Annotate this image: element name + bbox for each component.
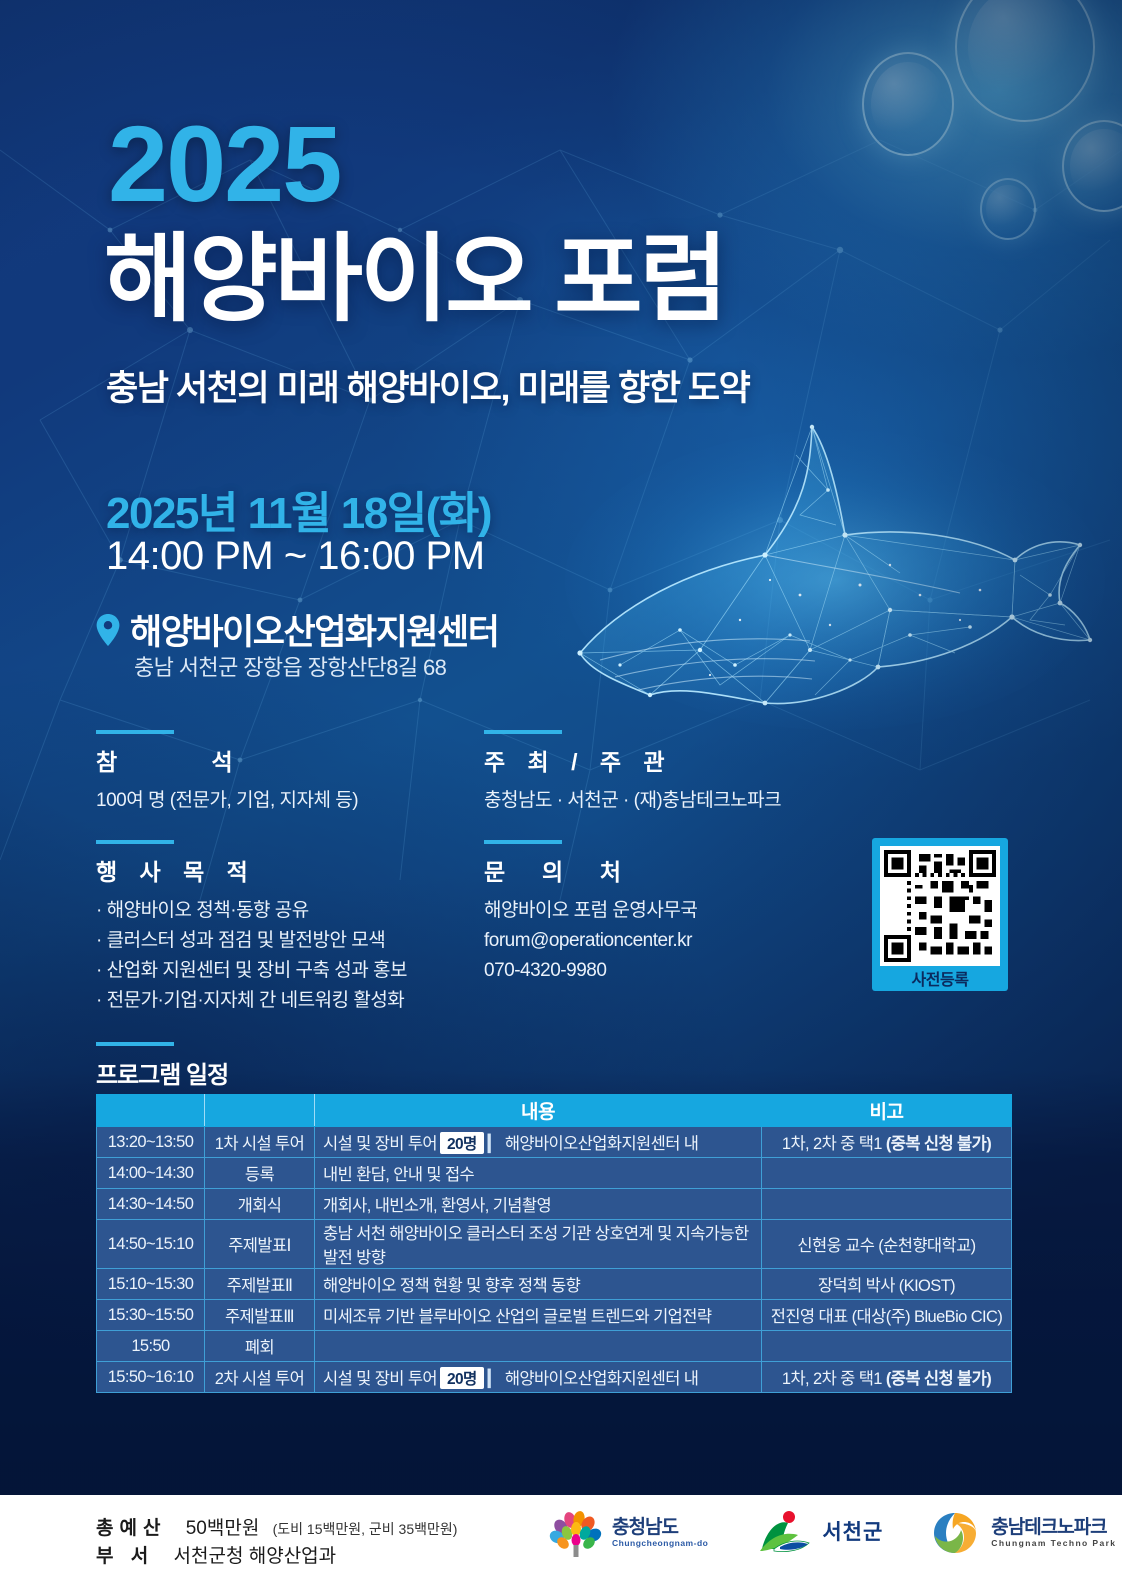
cell-content: 충남 서천 해양바이오 클러스터 조성 기관 상호연계 및 지속가능한 발전 방… (315, 1220, 762, 1269)
qr-registration-box[interactable]: 사전등록 (872, 838, 1008, 991)
program-heading-block: 프로그램 일정 (96, 1042, 228, 1090)
poster-title: 해양바이오 포럼 (104, 228, 725, 332)
table-row: 15:50폐회 (97, 1331, 1012, 1362)
table-row: 14:50~15:10주제발표Ⅰ충남 서천 해양바이오 클러스터 조성 기관 상… (97, 1220, 1012, 1269)
contact-phone[interactable]: 070-4320-9980 (484, 956, 844, 986)
cell-content: 시설 및 장비 투어20명▎해양바이오산업화지원센터 내 (315, 1362, 762, 1393)
event-date: 2025년 11월 18일(화) (106, 477, 491, 541)
note-text: 전진영 대표 (대상(주) BlueBio CIC) (771, 1308, 1002, 1326)
cell-note: 전진영 대표 (대상(주) BlueBio CIC) (762, 1300, 1012, 1331)
logo-seocheon-gun: 서천군 (754, 1509, 883, 1557)
event-time: 14:00 PM ~ 16:00 PM (106, 534, 485, 579)
note-text: 신현웅 교수 (순천향대학교) (797, 1237, 975, 1255)
cell-time: 15:50~16:10 (97, 1362, 205, 1393)
capacity-badge: 20명 (440, 1132, 484, 1154)
cell-note: 신현웅 교수 (순천향대학교) (762, 1220, 1012, 1269)
cell-time: 14:00~14:30 (97, 1158, 205, 1189)
accent-bar (484, 840, 562, 844)
content-text: 충남 서천 해양바이오 클러스터 조성 기관 상호연계 및 지속가능한 발전 방… (323, 1225, 749, 1267)
footer-budget-line: 총예산 50백만원 (도비 15백만원, 군비 35백만원) (96, 1513, 457, 1540)
cell-content: 시설 및 장비 투어20명▎해양바이오산업화지원센터 내 (315, 1127, 762, 1158)
note-emphasis: (중복 신청 불가) (886, 1370, 991, 1388)
content-text: 미세조류 기반 블루바이오 산업의 글로벌 트렌드와 기업전략 (323, 1308, 711, 1326)
location-pin-icon (96, 614, 120, 646)
poster-subtitle: 충남 서천의 미래 해양바이오, 미래를 향한 도약 (106, 360, 749, 411)
venue-name: 해양바이오산업화지원센터 (130, 604, 498, 655)
accent-bar (96, 730, 174, 734)
footer-dept-line: 부 서 서천군청 해양산업과 (96, 1541, 336, 1568)
qr-label: 사전등록 (880, 966, 1000, 996)
content-text: 개회사, 내빈소개, 환영사, 기념촬영 (323, 1197, 551, 1215)
chungnam-techno-park-emblem-icon (929, 1509, 983, 1557)
table-row: 15:10~15:30주제발표Ⅱ해양바이오 정책 현황 및 향후 정책 동향장덕… (97, 1269, 1012, 1300)
purpose-item: · 전문가·기업·지자체 간 네트워킹 활성화 (96, 986, 486, 1016)
th-content: 내용 (315, 1095, 762, 1127)
dept-label: 부 서 (96, 1546, 154, 1567)
logo-name-kr: 충청남도 (612, 1518, 708, 1538)
seocheon-gun-emblem-icon (754, 1509, 814, 1557)
contact-office: 해양바이오 포럼 운영사무국 (484, 896, 844, 926)
table-row: 15:50~16:102차 시설 투어시설 및 장비 투어20명▎해양바이오산업… (97, 1362, 1012, 1393)
attendance-body: 100여 명 (전문가, 기업, 지자체 등) (96, 786, 426, 816)
logo-name-en: Chungnam Techno Park (991, 1538, 1116, 1548)
purpose-heading: 행 사 목 적 (96, 853, 486, 887)
cell-time: 15:50 (97, 1331, 205, 1362)
cell-session: 2차 시설 투어 (205, 1362, 315, 1393)
table-header-row: 내용 비고 (97, 1095, 1012, 1127)
logo-name-kr: 충남테크노파크 (991, 1518, 1116, 1538)
program-section-title: 프로그램 일정 (96, 1055, 228, 1090)
table-row: 14:00~14:30등록내빈 환담, 안내 및 접수 (97, 1158, 1012, 1189)
cell-note (762, 1331, 1012, 1362)
content-text: 시설 및 장비 투어 (323, 1370, 437, 1388)
venue-address: 충남 서천군 장항읍 장항산단8길 68 (134, 650, 446, 682)
contact-email[interactable]: forum@operationcenter.kr (484, 926, 844, 956)
cell-note: 1차, 2차 중 택1 (중복 신청 불가) (762, 1362, 1012, 1393)
cell-content: 개회사, 내빈소개, 환영사, 기념촬영 (315, 1189, 762, 1220)
info-block-host: 주 최 / 주 관 충청남도 · 서천군 · (재)충남테크노파크 (484, 730, 884, 816)
cell-note (762, 1189, 1012, 1220)
th-session (205, 1095, 315, 1127)
cell-content: 해양바이오 정책 현황 및 향후 정책 동향 (315, 1269, 762, 1300)
th-note: 비고 (762, 1095, 1012, 1127)
cell-note: 장덕희 박사 (KIOST) (762, 1269, 1012, 1300)
program-table-body: 13:20~13:501차 시설 투어시설 및 장비 투어20명▎해양바이오산업… (97, 1127, 1012, 1393)
th-time (97, 1095, 205, 1127)
venue-row: 해양바이오산업화지원센터 (96, 604, 498, 655)
cell-time: 14:30~14:50 (97, 1189, 205, 1220)
budget-value: 50백만원 (186, 1518, 260, 1539)
cell-session: 주제발표Ⅲ (205, 1300, 315, 1331)
cell-time: 14:50~15:10 (97, 1220, 205, 1269)
poster-footer: 총예산 50백만원 (도비 15백만원, 군비 35백만원) 부 서 서천군청 … (0, 1495, 1122, 1587)
cell-note (762, 1158, 1012, 1189)
cell-time: 15:30~15:50 (97, 1300, 205, 1331)
purpose-item: · 클러스터 성과 점검 및 발전방안 모색 (96, 926, 486, 956)
logo-name-en: Chungcheongnam-do (612, 1538, 708, 1548)
cell-time: 13:20~13:50 (97, 1127, 205, 1158)
logo-chungcheongnam-do: 충청남도 Chungcheongnam-do (548, 1507, 708, 1559)
content-text: 시설 및 장비 투어 (323, 1135, 437, 1153)
cell-session: 주제발표Ⅰ (205, 1220, 315, 1269)
accent-bar (96, 1042, 174, 1046)
logo-chungnam-techno-park: 충남테크노파크 Chungnam Techno Park (929, 1509, 1116, 1557)
cell-time: 15:10~15:30 (97, 1269, 205, 1300)
purpose-list: · 해양바이오 정책·동향 공유 · 클러스터 성과 점검 및 발전방안 모색 … (96, 896, 486, 1016)
content-separator: ▎ (488, 1135, 500, 1153)
footer-logos: 충청남도 Chungcheongnam-do 서천군 (548, 1507, 1116, 1559)
attendance-heading: 참 석 (96, 743, 426, 777)
cell-session: 1차 시설 투어 (205, 1127, 315, 1158)
cell-note: 1차, 2차 중 택1 (중복 신청 불가) (762, 1127, 1012, 1158)
table-row: 14:30~14:50개회식개회사, 내빈소개, 환영사, 기념촬영 (97, 1189, 1012, 1220)
host-heading: 주 최 / 주 관 (484, 743, 884, 777)
content-location: 해양바이오산업화지원센터 내 (505, 1370, 699, 1388)
program-table: 내용 비고 13:20~13:501차 시설 투어시설 및 장비 투어20명▎해… (96, 1094, 1012, 1393)
budget-label: 총예산 (96, 1518, 166, 1539)
content-text: 해양바이오 정책 현황 및 향후 정책 동향 (323, 1277, 580, 1295)
contact-heading: 문 의 처 (484, 853, 844, 887)
cell-content: 내빈 환담, 안내 및 접수 (315, 1158, 762, 1189)
cell-session: 폐회 (205, 1331, 315, 1362)
cell-session: 주제발표Ⅱ (205, 1269, 315, 1300)
purpose-item: · 해양바이오 정책·동향 공유 (96, 896, 486, 926)
logo-text-group: 충청남도 Chungcheongnam-do (612, 1518, 708, 1548)
content-location: 해양바이오산업화지원센터 내 (505, 1135, 699, 1153)
table-row: 15:30~15:50주제발표Ⅲ미세조류 기반 블루바이오 산업의 글로벌 트렌… (97, 1300, 1012, 1331)
purpose-item: · 산업화 지원센터 및 장비 구축 성과 홍보 (96, 956, 486, 986)
cell-session: 개회식 (205, 1189, 315, 1220)
content-separator: ▎ (488, 1370, 500, 1388)
accent-bar (484, 730, 562, 734)
note-text: 1차, 2차 중 택1 (782, 1370, 886, 1388)
note-text: 장덕희 박사 (KIOST) (818, 1277, 955, 1295)
dept-value: 서천군청 해양산업과 (174, 1546, 337, 1567)
cell-content: 미세조류 기반 블루바이오 산업의 글로벌 트렌드와 기업전략 (315, 1300, 762, 1331)
accent-bar (96, 840, 174, 844)
logo-text-group: 충남테크노파크 Chungnam Techno Park (991, 1518, 1116, 1548)
cell-session: 등록 (205, 1158, 315, 1189)
logo-name-kr: 서천군 (822, 1522, 883, 1544)
poster-year: 2025 (108, 110, 340, 218)
info-block-attendance: 참 석 100여 명 (전문가, 기업, 지자체 등) (96, 730, 426, 816)
table-row: 13:20~13:501차 시설 투어시설 및 장비 투어20명▎해양바이오산업… (97, 1127, 1012, 1158)
cell-content (315, 1331, 762, 1362)
info-block-purpose: 행 사 목 적 · 해양바이오 정책·동향 공유 · 클러스터 성과 점검 및 … (96, 840, 486, 1016)
budget-detail: (도비 15백만원, 군비 35백만원) (273, 1521, 458, 1537)
qr-code-icon[interactable] (880, 846, 1000, 966)
chungcheongnam-do-emblem-icon (548, 1507, 604, 1559)
poster-root: 2025 해양바이오 포럼 충남 서천의 미래 해양바이오, 미래를 향한 도약… (0, 0, 1122, 1587)
capacity-badge: 20명 (440, 1367, 484, 1389)
content-text: 내빈 환담, 안내 및 접수 (323, 1166, 474, 1184)
info-block-contact: 문 의 처 해양바이오 포럼 운영사무국 forum@operationcent… (484, 840, 844, 986)
note-text: 1차, 2차 중 택1 (782, 1135, 886, 1153)
host-body: 충청남도 · 서천군 · (재)충남테크노파크 (484, 786, 884, 816)
note-emphasis: (중복 신청 불가) (886, 1135, 991, 1153)
